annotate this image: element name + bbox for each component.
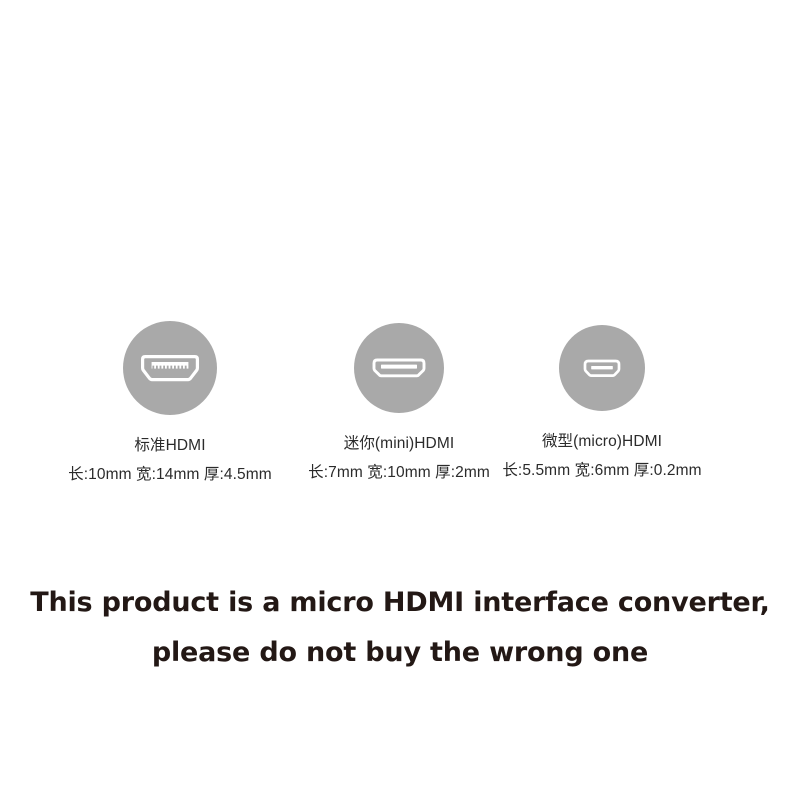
product-notice-line-2: please do not buy the wrong one xyxy=(0,628,800,678)
port-badge-micro xyxy=(559,325,645,411)
port-column-micro: 微型(micro)HDMI 长:5.5mm 宽:6mm 厚:0.2mm xyxy=(462,300,742,481)
product-notice-line-1: This product is a micro HDMI interface c… xyxy=(0,578,800,628)
hdmi-micro-port-icon xyxy=(583,359,621,378)
port-badge-standard xyxy=(123,321,217,415)
port-specs-micro: 长:5.5mm 宽:6mm 厚:0.2mm xyxy=(462,461,742,481)
port-name-micro: 微型(micro)HDMI xyxy=(462,432,742,452)
hdmi-mini-port-icon xyxy=(372,358,426,378)
port-comparison-section: 标准HDMI 长:10mm 宽:14mm 厚:4.5mm 迷你(mini)HDM… xyxy=(0,300,800,500)
hdmi-standard-port-icon xyxy=(139,355,201,382)
port-badge-mini xyxy=(354,323,444,413)
product-notice: This product is a micro HDMI interface c… xyxy=(0,578,800,678)
